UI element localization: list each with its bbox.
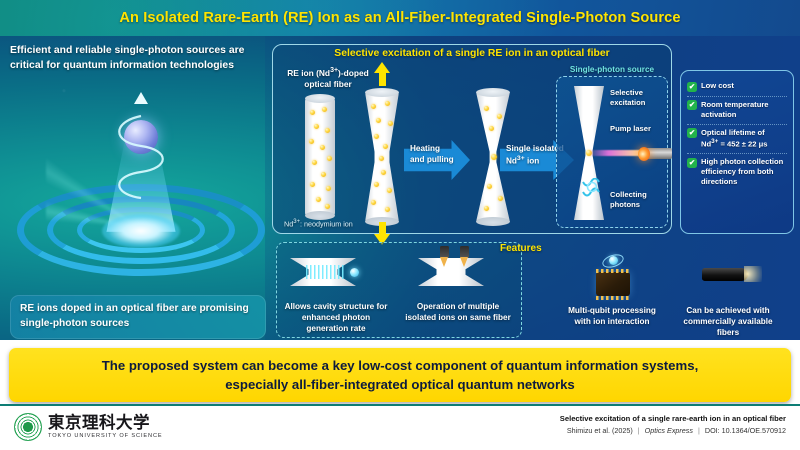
features-title: Features: [500, 243, 542, 254]
feature1-photon-icon: [350, 268, 359, 277]
sps-pump-laser-label: Pump laser: [610, 124, 666, 134]
feature2-probe-right-tip: [460, 257, 468, 267]
center-panel-title: Selective excitation of a single RE ion …: [272, 48, 672, 59]
check-icon: ✔: [687, 100, 697, 110]
sps-collecting-photons-label: Collecting photons: [610, 190, 666, 209]
cylinder-top: [305, 94, 335, 103]
left-takeaway-note: RE ions doped in an optical fiber are pr…: [10, 295, 266, 339]
header-band: An Isolated Rare-Earth (RE) Ion as an Al…: [0, 0, 800, 36]
citation-separator-2: |: [695, 426, 703, 435]
sps-selective-excitation-label: Selective excitation: [610, 88, 666, 107]
fiber-pulled: [365, 92, 399, 222]
banner-line-1: The proposed system can become a key low…: [102, 356, 699, 375]
feature-caption-3: Multi-qubit processing with ion interact…: [560, 306, 664, 328]
process-arrow-heating-label: Heatingand pulling: [410, 144, 462, 165]
check-item: ✔ Room temperature activation: [687, 96, 787, 124]
nd-footnote: Nd3+: neodymium ion: [284, 219, 353, 228]
citation-title: Selective excitation of a single rare-ea…: [560, 414, 786, 423]
feature-caption-2: Operation of multiple isolated ions on s…: [404, 302, 512, 324]
citation-journal: Optics Express: [645, 426, 693, 435]
citation-doi: DOI: 10.1364/OE.570912: [705, 426, 786, 435]
cylinder-bottom: [305, 211, 335, 220]
check-item: ✔ Optical lifetime ofNd3+ = 452 ± 22 μs: [687, 124, 787, 154]
page-title: An Isolated Rare-Earth (RE) Ion as an Al…: [119, 10, 680, 26]
collected-photon-wave-icon: [578, 178, 604, 210]
footer-divider: [0, 404, 800, 406]
university-name-jp: 東京理科大学: [48, 415, 163, 432]
key-message-banner: The proposed system can become a key low…: [9, 348, 791, 402]
check-item-label: Optical lifetime ofNd3+ = 452 ± 22 μs: [701, 128, 767, 150]
fiber-label: RE ion (Nd3+)-dopedoptical fiber: [282, 66, 374, 90]
feature4-fiber-strands: [744, 266, 762, 282]
check-item-label: Room temperature activation: [701, 100, 787, 120]
check-icon: ✔: [687, 128, 697, 138]
laser-head-icon: [638, 147, 650, 161]
quantum-hero-illustration: [6, 92, 276, 287]
check-icon: ✔: [687, 82, 697, 92]
check-item-label: Low cost: [701, 81, 734, 91]
up-arrow-icon: [134, 92, 148, 104]
citation-separator-1: |: [635, 426, 643, 435]
intro-text: Efficient and reliable single-photon sou…: [10, 44, 268, 74]
feature3-chip-pins-bottom: [596, 296, 630, 300]
pull-stem-up: [379, 72, 386, 86]
check-item: ✔ Low cost: [687, 78, 787, 96]
cylinder-top: [476, 88, 510, 97]
feature-caption-1: Allows cavity structure for enhanced pho…: [282, 302, 390, 335]
check-icon: ✔: [687, 158, 697, 168]
citation: Selective excitation of a single rare-ea…: [560, 414, 786, 435]
infographic-poster: An Isolated Rare-Earth (RE) Ion as an Al…: [0, 0, 800, 450]
university-seal-icon: [14, 413, 42, 441]
university-logo: 東京理科大学 TOKYO UNIVERSITY OF SCIENCE: [14, 413, 163, 441]
check-item: ✔ High photon collection efficiency from…: [687, 153, 787, 191]
feature4-fiber-cable-icon: [702, 268, 748, 281]
check-item-label: High photon collection efficiency from b…: [701, 157, 787, 187]
citation-meta: Shimizu et al. (2025) | Optics Express |…: [560, 426, 786, 435]
university-name-en: TOKYO UNIVERSITY OF SCIENCE: [48, 433, 163, 439]
banner-line-2: especially all-fiber-integrated optical …: [225, 375, 575, 394]
helix-icon: [86, 102, 196, 222]
feature3-chip-icon: [596, 272, 630, 296]
sps-title: Single-photon source: [556, 65, 668, 74]
feature3-chip-pins-top: [596, 269, 630, 273]
benefits-checklist-panel: ✔ Low cost ✔ Room temperature activation…: [680, 70, 794, 234]
footer: 東京理科大学 TOKYO UNIVERSITY OF SCIENCE Selec…: [0, 404, 800, 450]
cylinder-top: [365, 88, 399, 97]
feature2-probe-left-tip: [440, 257, 448, 267]
fiber-doped-cylinder: [305, 98, 335, 216]
feature1-cavity-wave: [306, 265, 344, 279]
citation-authors: Shimizu et al. (2025): [567, 426, 633, 435]
pull-stem-down: [379, 222, 386, 236]
feature-caption-4: Can be achieved with commercially availa…: [676, 306, 780, 339]
cylinder-bottom: [476, 217, 510, 226]
